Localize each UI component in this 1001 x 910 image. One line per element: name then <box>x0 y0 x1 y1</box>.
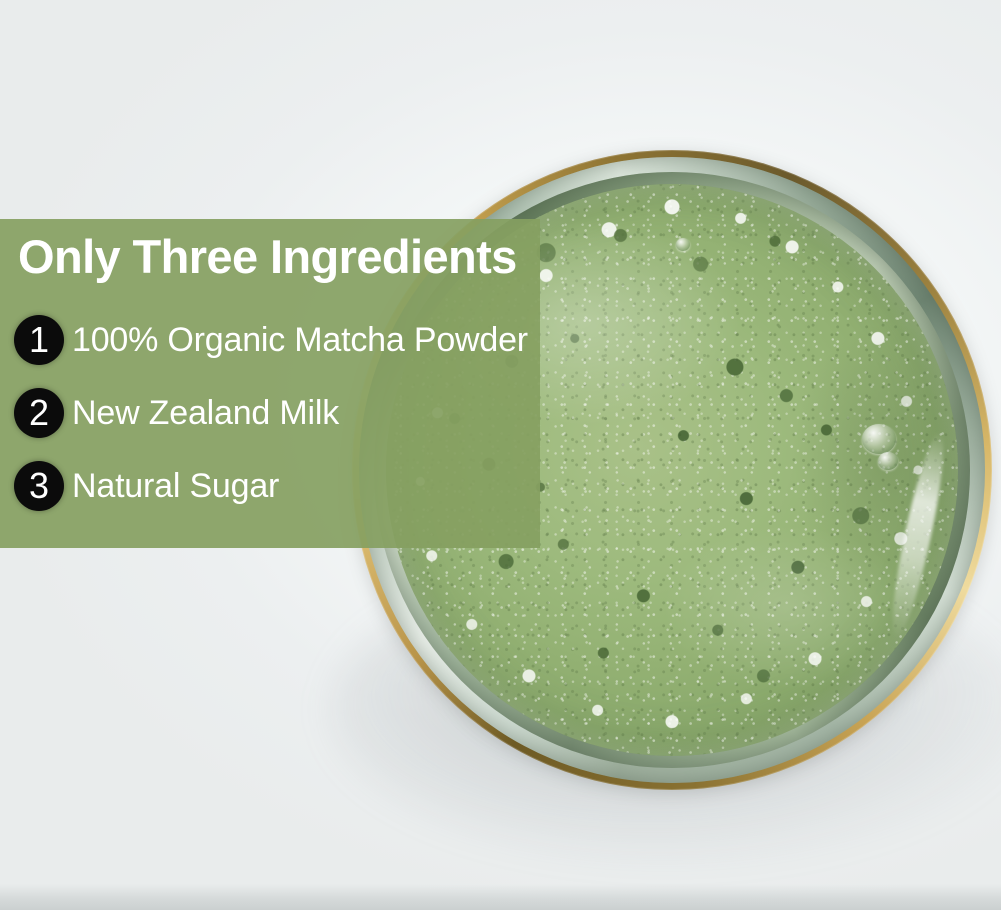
ingredient-number-badge-3: 3 <box>14 461 64 511</box>
ingredient-label-3: Natural Sugar <box>72 469 279 503</box>
foam-bubble-medium <box>878 452 898 470</box>
ingredient-label-1: 100% Organic Matcha Powder <box>72 323 528 357</box>
product-infographic: Only Three Ingredients 1 100% Organic Ma… <box>0 0 1001 910</box>
ingredient-number-badge-2: 2 <box>14 388 64 438</box>
ingredient-item-3: 3 Natural Sugar <box>14 461 524 511</box>
ingredient-list: 1 100% Organic Matcha Powder 2 New Zeala… <box>14 315 524 511</box>
foam-bubble-large <box>862 424 896 454</box>
ingredient-item-1: 1 100% Organic Matcha Powder <box>14 315 524 365</box>
ingredient-item-2: 2 New Zealand Milk <box>14 388 524 438</box>
surface-seam <box>0 884 1001 910</box>
ingredient-label-2: New Zealand Milk <box>72 396 339 430</box>
foam-bubble-small <box>676 238 690 251</box>
ingredient-number-badge-1: 1 <box>14 315 64 365</box>
ingredients-panel: Only Three Ingredients 1 100% Organic Ma… <box>0 219 540 548</box>
panel-heading: Only Three Ingredients <box>18 233 517 280</box>
